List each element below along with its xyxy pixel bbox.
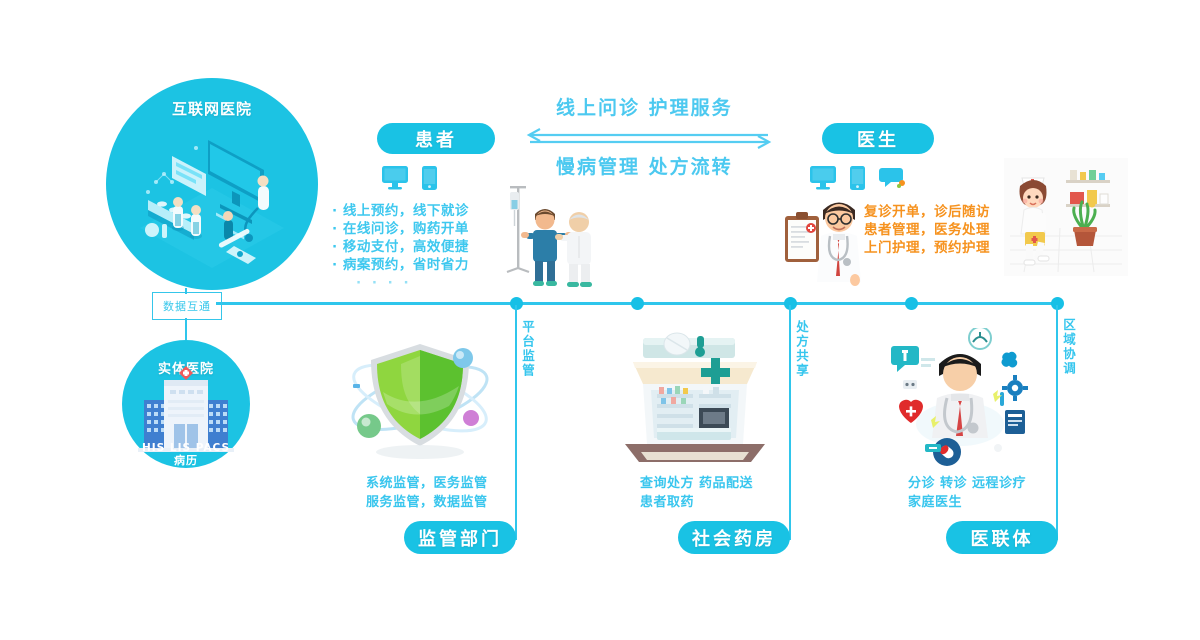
patient-device-icons	[382, 166, 437, 190]
connector-box-to-lower-circle	[185, 318, 187, 340]
timeline-node-alliance[interactable]	[905, 297, 918, 310]
doctor-capability-lines: 复诊开单，诊后随访 患者管理，医务处理 上门护理，预约护理	[864, 203, 990, 257]
doctor-pill[interactable]: 医生	[822, 123, 934, 154]
patient-bullets: · 线上预约，线下就诊 · 在线问诊，购药开单 · 移动支付，高效便捷 · 病案…	[332, 202, 469, 292]
alliance-lines: 分诊 转诊 远程诊疗 家庭医生	[908, 474, 1026, 512]
patient-illustration	[497, 180, 605, 288]
connector-circle-to-box	[185, 288, 187, 294]
bidirectional-arrow	[524, 128, 774, 150]
patient-bullet-0: · 线上预约，线下就诊	[332, 202, 469, 220]
shield-icon	[341, 330, 499, 470]
data-interchange-label: 数据互通	[163, 298, 211, 314]
pharmacy-pill[interactable]: 社会药房	[678, 521, 790, 554]
pharmacy-line-0: 查询处方 药品配送	[640, 474, 753, 493]
timeline-drop-platform	[515, 305, 517, 540]
timeline-label-platform: 平台监管	[521, 320, 534, 378]
physical-hospital-sub: 病历	[122, 452, 250, 468]
alliance-line-1: 家庭医生	[908, 493, 1026, 512]
patient-bullet-3: · 病案预约，省时省力	[332, 256, 469, 274]
patient-bullet-1: · 在线问诊，购药开单	[332, 220, 469, 238]
internet-hospital-circle[interactable]: 互联网医院	[106, 78, 318, 290]
phone-icon	[422, 166, 437, 190]
doctor-pill-label: 医生	[857, 126, 899, 152]
doctor-network-icon	[885, 328, 1035, 468]
doctor-line-0: 复诊开单，诊后随访	[864, 203, 990, 221]
timeline-label-prescription: 处方共享	[795, 320, 808, 378]
regulator-pill-label: 监管部门	[418, 525, 502, 551]
exchange-bottom-label: 慢病管理 处方流转	[556, 152, 733, 179]
alliance-pill[interactable]: 医联体	[946, 521, 1058, 554]
timeline-node-pharmacy[interactable]	[631, 297, 644, 310]
regulator-line-1: 服务监管，数据监管	[366, 493, 488, 512]
regulator-pill[interactable]: 监管部门	[404, 521, 516, 554]
timeline-label-region: 区域协调	[1062, 318, 1075, 376]
timeline-drop-region	[1056, 305, 1058, 540]
timeline-drop-prescription	[789, 305, 791, 540]
infographic-canvas: 互联网医院	[0, 0, 1200, 640]
doctor-line-1: 患者管理，医务处理	[864, 221, 990, 239]
data-interchange-box[interactable]: 数据互通	[152, 292, 222, 320]
patient-bullet-2: · 移动支付，高效便捷	[332, 238, 469, 256]
regulator-lines: 系统监管，医务监管 服务监管，数据监管	[366, 474, 488, 512]
patient-pill[interactable]: 患者	[377, 123, 495, 154]
physical-hospital-circle[interactable]: 实体医院	[122, 340, 250, 468]
isometric-hospital-illustration	[106, 78, 318, 290]
alliance-pill-label: 医联体	[971, 525, 1034, 551]
monitor-icon	[382, 166, 408, 190]
pharmacy-store-icon	[615, 332, 775, 470]
alliance-line-0: 分诊 转诊 远程诊疗	[908, 474, 1026, 493]
doctor-line-2: 上门护理，预约护理	[864, 239, 990, 257]
patient-bullet-4: · · · ·	[332, 274, 469, 292]
patient-pill-label: 患者	[415, 126, 457, 152]
regulator-line-0: 系统监管，医务监管	[366, 474, 488, 493]
home-nursing-illustration	[1004, 158, 1128, 276]
pharmacy-lines: 查询处方 药品配送 患者取药	[640, 474, 753, 512]
exchange-top-label: 线上问诊 护理服务	[556, 93, 733, 120]
pharmacy-pill-label: 社会药房	[692, 525, 776, 551]
pharmacy-line-1: 患者取药	[640, 493, 753, 512]
